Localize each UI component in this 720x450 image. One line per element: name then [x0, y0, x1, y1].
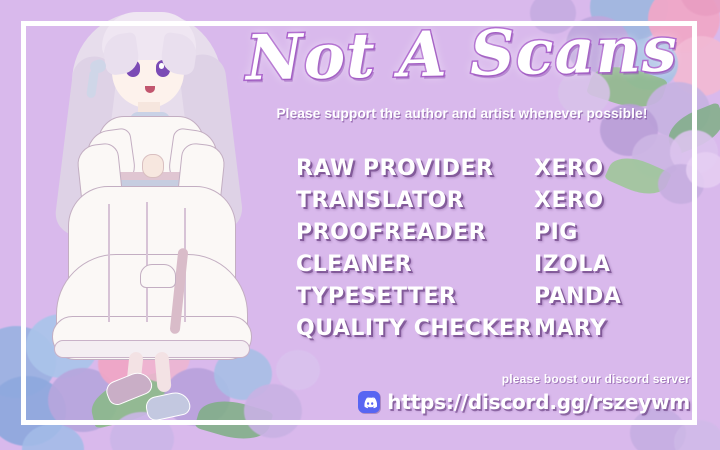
credit-row: CLEANER IZOLA — [296, 251, 686, 283]
title-container: Not A Scans — [232, 14, 692, 94]
credit-row: QUALITY CHECKER MARY — [296, 315, 686, 347]
credit-role-label: RAW PROVIDER — [296, 155, 534, 183]
credit-role-label: TRANSLATOR — [296, 187, 534, 215]
credit-role-label: TYPESETTER — [296, 283, 534, 311]
support-subtitle: Please support the author and artist whe… — [232, 106, 692, 121]
discord-section: please boost our discord server https://… — [358, 372, 690, 414]
discord-boost-text: please boost our discord server — [358, 372, 690, 386]
credit-row: TYPESETTER PANDA — [296, 283, 686, 315]
credits-table: RAW PROVIDER XERO TRANSLATOR XERO PROOFR… — [296, 155, 686, 347]
credit-person-name: MARY — [534, 315, 684, 343]
discord-link-row[interactable]: https://discord.gg/rszeywm — [358, 390, 690, 414]
credit-person-name: XERO — [534, 155, 684, 183]
credit-role-label: PROOFREADER — [296, 219, 534, 247]
discord-icon — [358, 391, 380, 413]
credit-role-label: QUALITY CHECKER — [296, 315, 534, 343]
credit-person-name: XERO — [534, 187, 684, 215]
discord-url-text[interactable]: https://discord.gg/rszeywm — [387, 390, 690, 414]
page-title: Not A Scans — [246, 18, 679, 89]
credit-row: RAW PROVIDER XERO — [296, 155, 686, 187]
credit-row: TRANSLATOR XERO — [296, 187, 686, 219]
credit-page: Not A Scans Please support the author an… — [0, 0, 720, 450]
credit-person-name: PANDA — [534, 283, 684, 311]
credit-row: PROOFREADER PIG — [296, 219, 686, 251]
credit-person-name: PIG — [534, 219, 684, 247]
credit-role-label: CLEANER — [296, 251, 534, 279]
credit-person-name: IZOLA — [534, 251, 684, 279]
